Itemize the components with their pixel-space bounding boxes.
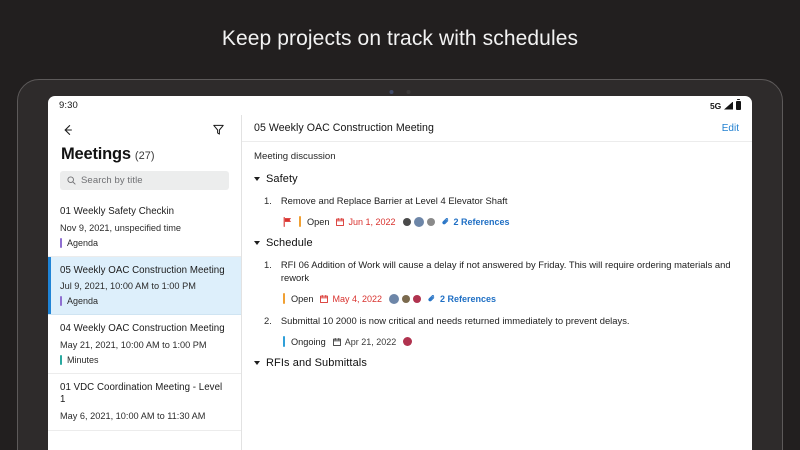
edit-button[interactable]: Edit	[722, 123, 739, 134]
assignee-avatars[interactable]	[389, 294, 421, 304]
avatar	[403, 337, 412, 346]
status-label: Open	[307, 217, 329, 227]
avatar	[402, 295, 410, 303]
badge-bar-icon	[60, 355, 62, 365]
avatar	[403, 218, 411, 226]
promo-headline: Keep projects on track with schedules	[0, 27, 800, 51]
references-link[interactable]: 2 References	[428, 294, 496, 304]
section-header-schedule[interactable]: Schedule	[254, 237, 739, 249]
references-link[interactable]: 2 References	[442, 217, 510, 227]
status-bar-icon	[283, 336, 285, 347]
status-pill: Ongoing	[283, 336, 326, 347]
status-pill: Open	[283, 293, 313, 304]
filter-funnel-icon[interactable]	[208, 120, 228, 140]
signal-icon	[724, 102, 733, 110]
search-placeholder: Search by title	[81, 175, 143, 186]
task-text: Remove and Replace Barrier at Level 4 El…	[281, 194, 508, 207]
meeting-date: Nov 9, 2021, unspecified time	[60, 222, 230, 234]
calendar-icon	[336, 218, 344, 226]
avatar	[414, 217, 424, 227]
status-bar: 9:30 5G	[48, 96, 752, 115]
status-time: 9:30	[59, 100, 78, 111]
chevron-down-icon[interactable]	[254, 177, 260, 181]
section-title: RFIs and Submittals	[266, 357, 367, 369]
due-date-chip: Apr 21, 2022	[333, 337, 397, 347]
task-meta-row: Ongoing Apr 21, 2022	[264, 336, 739, 347]
status-bar-icon	[299, 216, 301, 227]
meeting-date: May 21, 2021, 10:00 AM to 1:00 PM	[60, 339, 230, 351]
page-title: Meetings	[61, 145, 131, 164]
task-item: 1. RFI 06 Addition of Work will cause a …	[254, 258, 739, 304]
section-header-rfis[interactable]: RFIs and Submittals	[254, 357, 739, 369]
status-badge: Agenda	[60, 238, 230, 248]
status-indicators: 5G	[710, 101, 741, 111]
list-item[interactable]: 05 Weekly OAC Construction Meeting Jul 9…	[48, 257, 241, 316]
meeting-title: 04 Weekly OAC Construction Meeting	[60, 323, 230, 336]
camera-dot-icon	[407, 90, 411, 94]
section-header-safety[interactable]: Safety	[254, 173, 739, 185]
list-item[interactable]: 01 VDC Coordination Meeting - Level 1 Ma…	[48, 374, 241, 431]
back-arrow-icon[interactable]	[58, 120, 78, 140]
search-icon	[67, 176, 76, 185]
camera-dot-icon	[390, 90, 394, 94]
meeting-title: 01 Weekly Safety Checkin	[60, 206, 230, 219]
task-item: 2. Submittal 10 2000 is now critical and…	[254, 314, 739, 347]
status-label: Open	[291, 294, 313, 304]
due-date-chip: Jun 1, 2022	[336, 217, 395, 227]
due-date-chip: May 4, 2022	[320, 294, 382, 304]
task-meta-row: Open May 4, 2022	[264, 293, 739, 304]
list-item[interactable]: 04 Weekly OAC Construction Meeting May 2…	[48, 315, 241, 374]
references-text: 2 References	[454, 217, 510, 227]
sidebar-toolbar	[48, 115, 241, 144]
meetings-sidebar: Meetings (27) Search by title 01 Weekl	[48, 115, 242, 450]
search-container: Search by title	[48, 171, 241, 198]
network-label: 5G	[710, 101, 721, 111]
meetings-count: (27)	[135, 150, 155, 162]
avatar	[389, 294, 399, 304]
list-item[interactable]: 01 Weekly Safety Checkin Nov 9, 2021, un…	[48, 198, 241, 257]
task-line: 1. RFI 06 Addition of Work will cause a …	[264, 258, 739, 284]
chevron-down-icon[interactable]	[254, 361, 260, 365]
task-line: 1. Remove and Replace Barrier at Level 4…	[264, 194, 739, 207]
status-badge: Agenda	[60, 296, 230, 306]
front-camera-icon	[390, 90, 411, 94]
status-label: Ongoing	[291, 337, 326, 347]
sidebar-heading: Meetings (27)	[48, 144, 241, 171]
paperclip-icon	[442, 218, 450, 226]
due-date-text: Jun 1, 2022	[348, 217, 395, 227]
badge-label: Agenda	[67, 296, 98, 306]
task-number: 1.	[264, 258, 272, 270]
meeting-date: May 6, 2021, 10:00 AM to 11:30 AM	[60, 410, 230, 422]
assignee-avatars[interactable]	[403, 217, 435, 227]
meeting-title: 01 VDC Coordination Meeting - Level 1	[60, 382, 230, 407]
badge-label: Minutes	[67, 355, 99, 365]
task-text: RFI 06 Addition of Work will cause a del…	[281, 258, 739, 284]
search-input[interactable]: Search by title	[60, 171, 229, 190]
chevron-down-icon[interactable]	[254, 241, 260, 245]
task-text: Submittal 10 2000 is now critical and ne…	[281, 314, 630, 327]
app-body: Meetings (27) Search by title 01 Weekl	[48, 115, 752, 450]
references-text: 2 References	[440, 294, 496, 304]
meeting-date: Jul 9, 2021, 10:00 AM to 1:00 PM	[60, 280, 230, 292]
meeting-detail-pane: 05 Weekly OAC Construction Meeting Edit …	[242, 115, 752, 450]
status-badge: Minutes	[60, 355, 230, 365]
task-item: 1. Remove and Replace Barrier at Level 4…	[254, 194, 739, 227]
status-pill: Open	[299, 216, 329, 227]
calendar-icon	[333, 338, 341, 346]
task-number: 1.	[264, 194, 272, 206]
meeting-title: 05 Weekly OAC Construction Meeting	[60, 265, 230, 278]
avatar	[427, 218, 435, 226]
assignee-avatars[interactable]	[403, 337, 412, 346]
calendar-icon	[320, 295, 328, 303]
promo-stage: Keep projects on track with schedules 9:…	[0, 0, 800, 450]
task-meta-row: Open Jun 1, 2022	[264, 216, 739, 227]
due-date-text: Apr 21, 2022	[345, 337, 397, 347]
avatar	[413, 295, 421, 303]
detail-toolbar: 05 Weekly OAC Construction Meeting Edit	[242, 115, 752, 142]
task-line: 2. Submittal 10 2000 is now critical and…	[264, 314, 739, 327]
task-number: 2.	[264, 314, 272, 326]
meeting-list[interactable]: 01 Weekly Safety Checkin Nov 9, 2021, un…	[48, 198, 241, 450]
red-flag-icon[interactable]	[283, 217, 292, 227]
badge-bar-icon	[60, 238, 62, 248]
detail-subtitle: Meeting discussion	[254, 151, 739, 162]
due-date-text: May 4, 2022	[332, 294, 382, 304]
battery-icon	[736, 101, 741, 110]
badge-label: Agenda	[67, 238, 98, 248]
tablet-screen: 9:30 5G	[48, 96, 752, 450]
detail-content: Meeting discussion Safety 1. Remove and …	[242, 142, 752, 450]
section-title: Safety	[266, 173, 298, 185]
badge-bar-icon	[60, 296, 62, 306]
paperclip-icon	[428, 295, 436, 303]
detail-title: 05 Weekly OAC Construction Meeting	[254, 122, 434, 134]
status-bar-icon	[283, 293, 285, 304]
section-title: Schedule	[266, 237, 313, 249]
